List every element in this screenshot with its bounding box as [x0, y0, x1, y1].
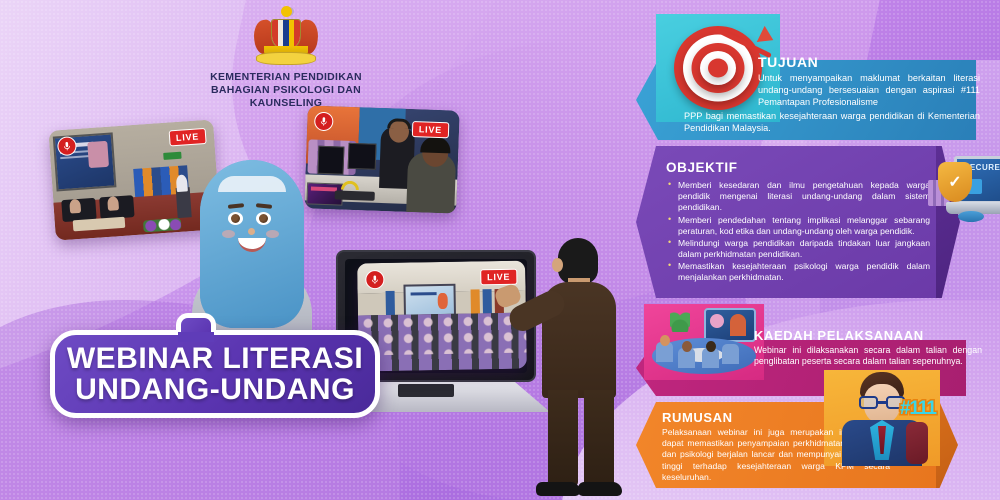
panel-objektif-bullet-list: Memberi kesedaran dan ilmu pengetahuan k…: [668, 180, 930, 285]
laptop-security-shield-icon: ! SECURE ✓: [940, 140, 1000, 224]
target-dartboard-icon: [672, 22, 764, 114]
panel-rumusan: #111 RUMUSAN Pelaksanaan webinar ini jug…: [636, 396, 992, 494]
live-badge: LIVE: [480, 269, 517, 286]
presenter-man-silhouette: [516, 238, 642, 500]
photo-hall-audience: LIVE: [357, 261, 527, 372]
list-item: Melindungi warga pendidikan daripada tin…: [668, 238, 930, 260]
live-badge: LIVE: [168, 128, 206, 147]
page-title-line2: UNDANG-UNDANG: [75, 374, 355, 406]
panel-tujuan: TUJUAN Untuk menyampaikan maklumat berka…: [636, 14, 992, 140]
panel-kaedah-title: KAEDAH PELAKSANAAN: [754, 328, 982, 343]
ministry-name-line1: KEMENTERIAN PENDIDIKAN: [186, 71, 386, 84]
live-badge: LIVE: [412, 121, 450, 138]
ministry-header: ★ KEMENTERIAN PENDIDIKAN BAHAGIAN PSIKOL…: [186, 6, 386, 110]
panel-kaedah-body: Webinar ini dilaksanakan secara dalam ta…: [754, 345, 982, 368]
ministry-name-line2: BAHAGIAN PSIKOLOGI DAN KAUNSELING: [186, 84, 386, 110]
list-item: Memberi pendedahan tentang implikasi mel…: [668, 215, 930, 237]
infographic-poster: ★ KEMENTERIAN PENDIDIKAN BAHAGIAN PSIKOL…: [0, 0, 1000, 500]
main-title-banner: WEBINAR LITERASI UNDANG-UNDANG: [50, 330, 380, 418]
panel-objektif: OBJEKTIF Memberi kesedaran dan ilmu peng…: [636, 146, 992, 298]
panel-tujuan-body-part1: Untuk menyampaikan maklumat berkaitan li…: [758, 73, 980, 109]
panel-tujuan-title: TUJUAN: [758, 54, 980, 70]
page-title-line1: WEBINAR LITERASI: [67, 343, 363, 375]
list-item: Memberi kesedaran dan ilmu pengetahuan k…: [668, 180, 930, 214]
list-item: Memastikan kesejahteraan psikologi warga…: [668, 261, 930, 283]
jata-negara-emblem-icon: ★: [250, 6, 322, 68]
panel-tujuan-body-part2: PPP bagi memastikan kesejahteraan warga …: [684, 110, 980, 134]
student-character-icon: #111: [826, 372, 938, 466]
aspiration-badge: #111: [900, 398, 936, 420]
photo-control-room: LIVE: [304, 105, 460, 213]
online-meeting-isometric-icon: [646, 308, 762, 380]
panel-objektif-title: OBJEKTIF: [666, 160, 738, 175]
